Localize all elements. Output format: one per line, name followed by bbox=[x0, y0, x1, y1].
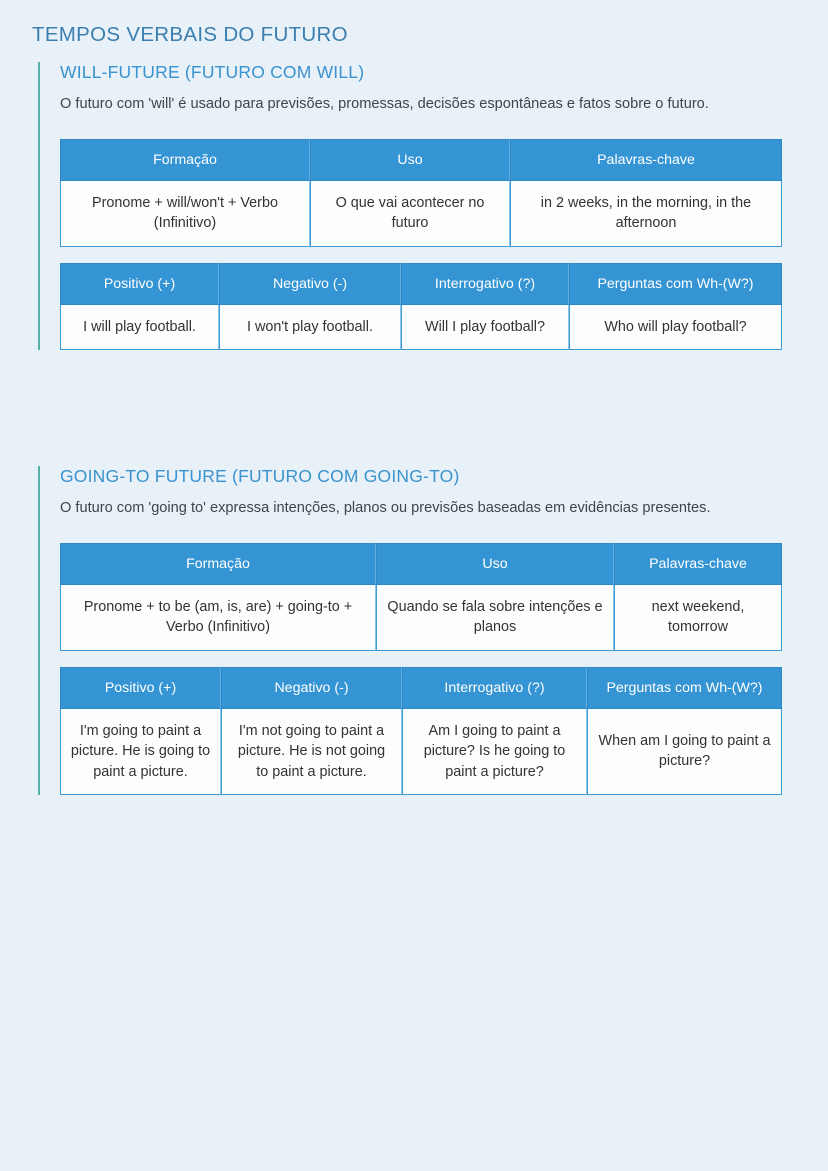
table-row: I will play football. I won't play footb… bbox=[60, 305, 782, 350]
column-header-negativo: Negativo (-) bbox=[219, 263, 401, 305]
cell-perguntas-wh: Who will play football? bbox=[569, 305, 782, 350]
column-header-formacao: Formação bbox=[60, 543, 376, 585]
table-goingto-formacao: Formação Uso Palavras-chave Pronome + to… bbox=[60, 543, 782, 651]
column-header-interrogativo: Interrogativo (?) bbox=[402, 667, 587, 709]
cell-positivo: I'm going to paint a picture. He is goin… bbox=[60, 709, 221, 795]
column-header-negativo: Negativo (-) bbox=[221, 667, 402, 709]
table-goingto-formas: Positivo (+) Negativo (-) Interrogativo … bbox=[60, 667, 782, 796]
table-header-row: Formação Uso Palavras-chave bbox=[60, 543, 782, 585]
section-will-future: WILL-FUTURE (FUTURO COM WILL) O futuro c… bbox=[38, 62, 790, 350]
table-header-row: Positivo (+) Negativo (-) Interrogativo … bbox=[60, 263, 782, 305]
table-will-formas: Positivo (+) Negativo (-) Interrogativo … bbox=[60, 263, 782, 351]
column-header-interrogativo: Interrogativo (?) bbox=[401, 263, 569, 305]
section-description-will-future: O futuro com 'will' é usado para previsõ… bbox=[60, 93, 775, 117]
section-description-going-to-future: O futuro com 'going to' expressa intençõ… bbox=[60, 497, 775, 521]
cell-perguntas-wh: When am I going to paint a picture? bbox=[587, 709, 782, 795]
cell-negativo: I won't play football. bbox=[219, 305, 401, 350]
cell-negativo: I'm not going to paint a picture. He is … bbox=[221, 709, 402, 795]
column-header-uso: Uso bbox=[310, 139, 510, 181]
table-will-formacao: Formação Uso Palavras-chave Pronome + wi… bbox=[60, 139, 782, 247]
column-header-positivo: Positivo (+) bbox=[60, 263, 219, 305]
section-going-to-future: GOING-TO FUTURE (FUTURO COM GOING-TO) O … bbox=[38, 466, 790, 795]
cell-formacao: Pronome + will/won't + Verbo (Infinitivo… bbox=[60, 181, 310, 247]
column-header-formacao: Formação bbox=[60, 139, 310, 181]
table-header-row: Positivo (+) Negativo (-) Interrogativo … bbox=[60, 667, 782, 709]
cell-interrogativo: Will I play football? bbox=[401, 305, 569, 350]
table-header-row: Formação Uso Palavras-chave bbox=[60, 139, 782, 181]
page-root: TEMPOS VERBAIS DO FUTURO WILL-FUTURE (FU… bbox=[0, 0, 828, 1171]
column-header-palavras-chave: Palavras-chave bbox=[510, 139, 782, 181]
column-header-palavras-chave: Palavras-chave bbox=[614, 543, 782, 585]
cell-formacao: Pronome + to be (am, is, are) + going-to… bbox=[60, 585, 376, 651]
section-title-going-to-future: GOING-TO FUTURE (FUTURO COM GOING-TO) bbox=[60, 466, 790, 488]
table-row: Pronome + will/won't + Verbo (Infinitivo… bbox=[60, 181, 782, 247]
section-title-will-future: WILL-FUTURE (FUTURO COM WILL) bbox=[60, 62, 790, 84]
cell-palavras-chave: in 2 weeks, in the morning, in the after… bbox=[510, 181, 782, 247]
cell-uso: O que vai acontecer no futuro bbox=[310, 181, 510, 247]
column-header-positivo: Positivo (+) bbox=[60, 667, 221, 709]
cell-positivo: I will play football. bbox=[60, 305, 219, 350]
column-header-perguntas-wh: Perguntas com Wh-(W?) bbox=[569, 263, 782, 305]
page-title: TEMPOS VERBAIS DO FUTURO bbox=[32, 23, 348, 47]
cell-palavras-chave: next weekend, tomorrow bbox=[614, 585, 782, 651]
cell-interrogativo: Am I going to paint a picture? Is he goi… bbox=[402, 709, 587, 795]
column-header-uso: Uso bbox=[376, 543, 614, 585]
table-row: Pronome + to be (am, is, are) + going-to… bbox=[60, 585, 782, 651]
table-row: I'm going to paint a picture. He is goin… bbox=[60, 709, 782, 795]
cell-uso: Quando se fala sobre intenções e planos bbox=[376, 585, 614, 651]
column-header-perguntas-wh: Perguntas com Wh-(W?) bbox=[587, 667, 782, 709]
